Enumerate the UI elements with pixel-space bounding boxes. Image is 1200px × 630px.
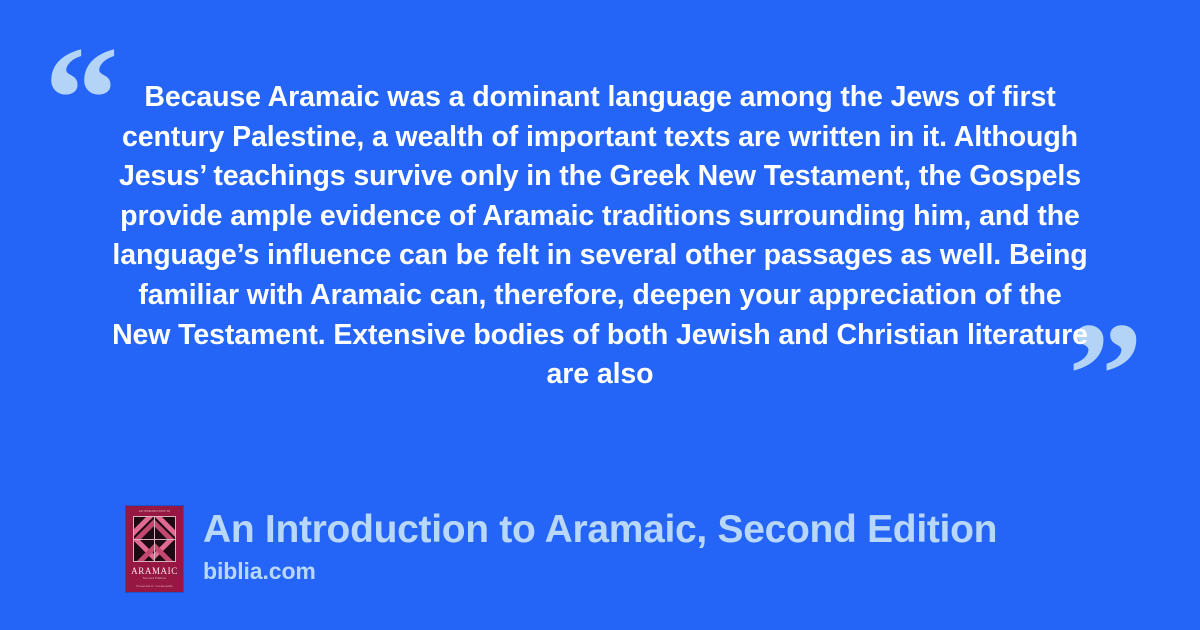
book-cover-thumbnail[interactable]: AN INTRODUCTION TO ARAMAIC Second Editio…	[126, 506, 183, 592]
book-cover-tile	[134, 517, 154, 539]
book-cover-title: ARAMAIC	[126, 566, 183, 576]
quote-text: Because Aramaic was a dominant language …	[108, 78, 1092, 395]
book-cover-tile	[134, 540, 154, 562]
book-cover-tile	[155, 540, 175, 562]
book-cover-top-line: AN INTRODUCTION TO	[126, 510, 183, 513]
site-name[interactable]: biblia.com	[203, 557, 997, 585]
book-cover-subtitle: Second Edition	[126, 576, 183, 580]
book-cover-artwork	[133, 516, 176, 562]
footer: AN INTRODUCTION TO ARAMAIC Second Editio…	[126, 506, 997, 592]
quote-card: “ ” Because Aramaic was a dominant langu…	[0, 0, 1200, 630]
book-title[interactable]: An Introduction to Aramaic, Second Editi…	[203, 507, 997, 553]
footer-text-block: An Introduction to Aramaic, Second Editi…	[203, 506, 997, 585]
book-cover-author: Frederick E. Greenspahn	[126, 584, 183, 588]
book-cover-tile	[155, 517, 175, 539]
